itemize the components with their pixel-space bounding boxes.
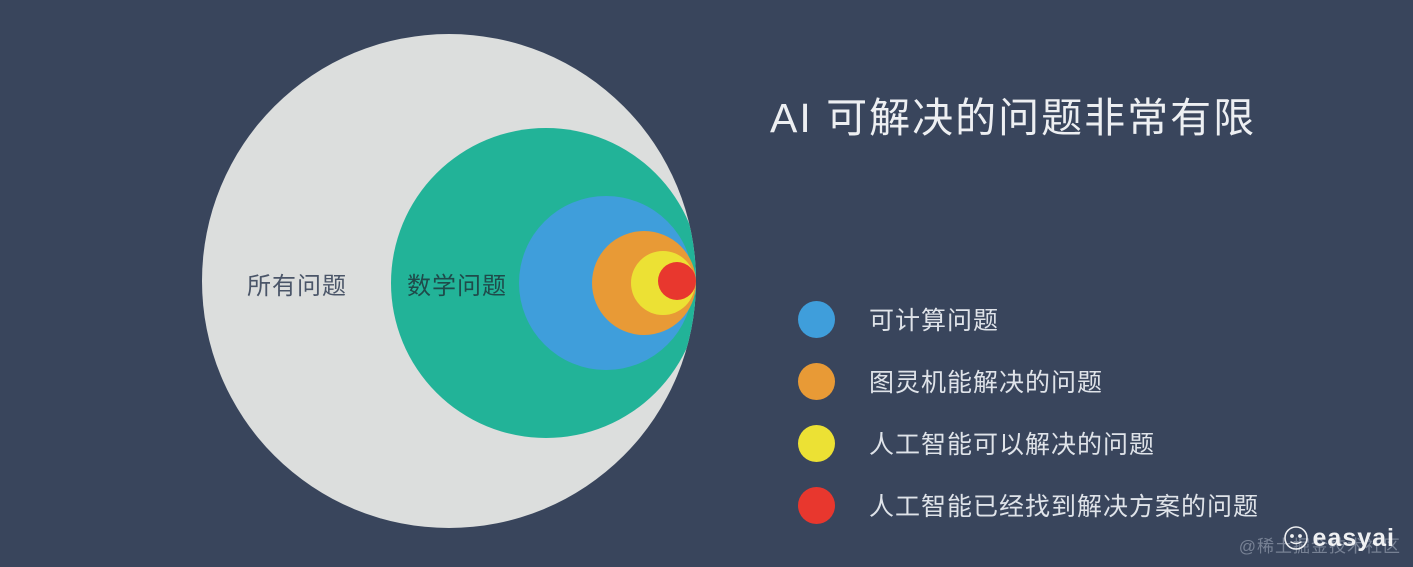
venn-svg [0,0,740,567]
slide-root: 所有问题 数学问题 AI 可解决的问题非常有限 可计算问题 图灵机能解决的问题 … [0,0,1413,567]
legend-color-swatch [798,363,835,400]
right-column: AI 可解决的问题非常有限 可计算问题 图灵机能解决的问题 人工智能可以解决的问… [740,0,1413,567]
legend-item-turing: 图灵机能解决的问题 [798,350,1398,412]
legend-item-label: 人工智能可以解决的问题 [869,425,1155,461]
legend-color-swatch [798,487,835,524]
legend-item-label: 人工智能已经找到解决方案的问题 [869,487,1259,523]
venn-diagram: 所有问题 数学问题 [0,0,740,567]
circle-ai-solved-problems [658,262,696,300]
legend-item-computable: 可计算问题 [798,288,1398,350]
legend-item-label: 可计算问题 [869,301,999,337]
page-title: AI 可解决的问题非常有限 [770,84,1256,144]
easyai-face-icon [1283,525,1309,551]
easyai-logo: easyai [1283,525,1395,551]
legend-color-swatch [798,301,835,338]
legend-color-swatch [798,425,835,462]
legend-item-label: 图灵机能解决的问题 [869,363,1103,399]
legend: 可计算问题 图灵机能解决的问题 人工智能可以解决的问题 人工智能已经找到解决方案… [798,288,1398,536]
legend-item-ai-solvable: 人工智能可以解决的问题 [798,412,1398,474]
easyai-logo-text: easyai [1313,526,1395,551]
